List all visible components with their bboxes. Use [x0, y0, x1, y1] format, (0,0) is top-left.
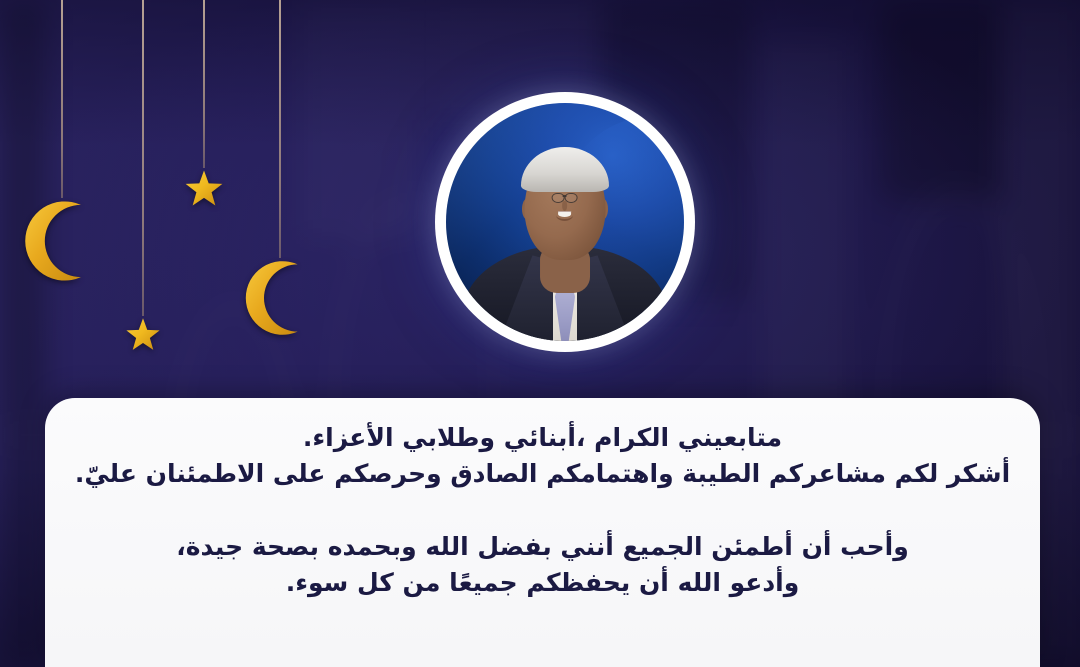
ornament-thread	[61, 0, 63, 198]
crescent-moon-ornament-2-shape	[240, 258, 320, 342]
star-ornament-1-shape	[183, 168, 225, 214]
hair	[521, 147, 609, 192]
paragraph-2-line-2: وأدعو الله أن يحفظكم جميعًا من كل سوء.	[71, 565, 1014, 601]
greeting-card-image: متابعيني الكرام ،أبنائي وطلابي الأعزاء. …	[0, 0, 1080, 667]
ornament-thread	[142, 0, 144, 316]
crescent-moon-ornament-1-shape	[19, 198, 105, 288]
avatar-photo	[446, 103, 684, 341]
star-ornament-2-shape	[124, 316, 162, 358]
message-card: متابعيني الكرام ،أبنائي وطلابي الأعزاء. …	[45, 398, 1040, 667]
message-paragraph-2: وأحب أن أطمئن الجميع أنني بفضل الله وبحم…	[71, 529, 1014, 600]
portrait-figure	[446, 103, 684, 341]
ornament-thread	[203, 0, 205, 168]
paragraph-1-line-2: أشكر لكم مشاعركم الطيبة واهتمامكم الصادق…	[71, 456, 1014, 492]
ornament-thread	[279, 0, 281, 258]
message-paragraph-1: متابعيني الكرام ،أبنائي وطلابي الأعزاء. …	[71, 420, 1014, 491]
paragraph-1-line-1: متابعيني الكرام ،أبنائي وطلابي الأعزاء.	[71, 420, 1014, 456]
paragraph-2-line-1: وأحب أن أطمئن الجميع أنني بفضل الله وبحم…	[71, 529, 1014, 565]
avatar	[435, 92, 695, 352]
